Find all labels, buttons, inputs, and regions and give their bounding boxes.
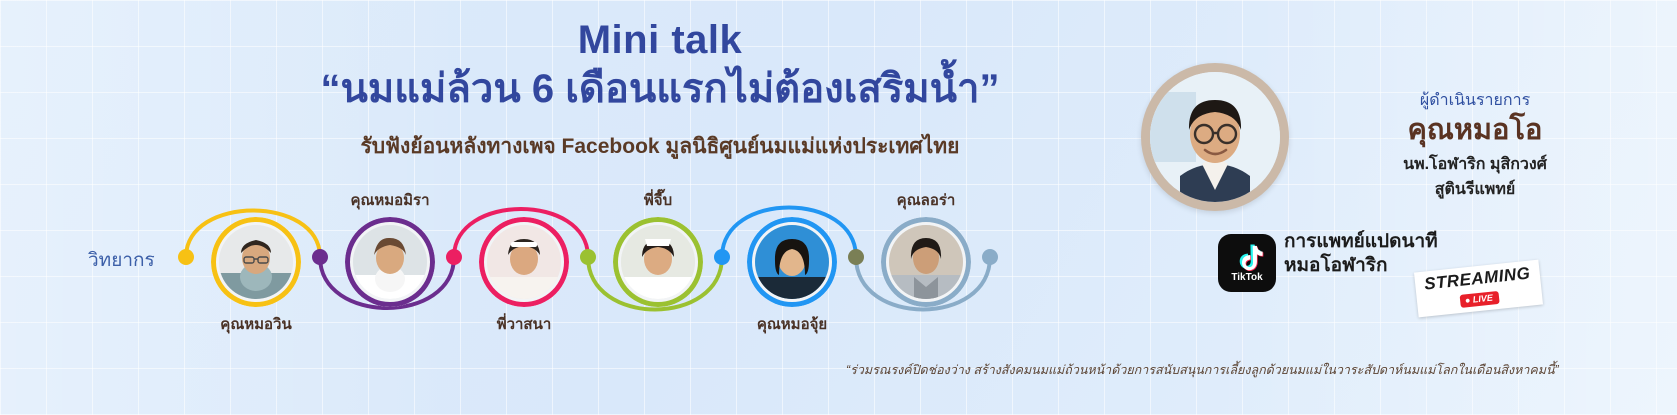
- person-photo-icon: [219, 225, 293, 299]
- speaker-name-3: พี่วาสนา: [449, 312, 599, 336]
- page-title: Mini talk: [250, 18, 1070, 62]
- campaign-note: “ร่วมรณรงค์ปิดช่องว่าง สร้างสังคมนมแม่ถ้…: [846, 360, 1559, 380]
- person-photo-icon: [621, 225, 695, 299]
- host-person-photo-icon: [1150, 72, 1280, 202]
- host-nickname: คุณหมอโอ: [1290, 115, 1660, 147]
- connector-node-3: [446, 249, 462, 265]
- person-photo-icon: [755, 225, 829, 299]
- host-fullname: นพ.โอฬาริก มุสิกวงศ์: [1290, 152, 1660, 177]
- tiktok-note-glyph: [1232, 243, 1262, 271]
- avatar-photo-5: [755, 225, 829, 299]
- avatar-photo-3: [487, 225, 561, 299]
- connector-node-2: [312, 249, 328, 265]
- speaker-avatar-5[interactable]: [747, 217, 837, 307]
- tiktok-icon[interactable]: TikTok: [1218, 234, 1276, 292]
- speaker-avatar-6[interactable]: [881, 217, 971, 307]
- host-specialty: สูตินรีแพทย์: [1290, 177, 1660, 202]
- speaker-name-6: คุณลอร่า: [851, 188, 1001, 212]
- promo-banner: Mini talk “นมแม่ล้วน 6 เดือนแรกไม่ต้องเส…: [0, 0, 1677, 415]
- avatar-photo-1: [219, 225, 293, 299]
- channel-caption-line1: การแพทย์แปดนาที: [1284, 230, 1438, 254]
- connector-node-7: [982, 249, 998, 265]
- talk-topic-quote: “นมแม่ล้วน 6 เดือนแรกไม่ต้องเสริมน้ำ”: [250, 64, 1070, 114]
- connector-node-1: [178, 249, 194, 265]
- host-role-label: ผู้ดำเนินรายการ: [1290, 88, 1660, 113]
- avatar-photo-4: [621, 225, 695, 299]
- person-photo-icon: [889, 225, 963, 299]
- live-badge: ● LIVE: [1459, 291, 1499, 308]
- speaker-name-1: คุณหมอวิน: [181, 312, 331, 336]
- connector-node-5: [714, 249, 730, 265]
- host-photo-image: [1150, 72, 1280, 202]
- host-info-block: ผู้ดำเนินรายการ คุณหมอโอ นพ.โอฬาริก มุสิ…: [1290, 88, 1660, 202]
- person-photo-icon: [487, 225, 561, 299]
- tiktok-music-note-icon: [1232, 243, 1264, 275]
- headline-block: Mini talk “นมแม่ล้วน 6 เดือนแรกไม่ต้องเส…: [250, 18, 1070, 163]
- host-avatar[interactable]: [1141, 63, 1289, 211]
- speaker-avatar-4[interactable]: [613, 217, 703, 307]
- avatar-photo-6: [889, 225, 963, 299]
- channel-caption: การแพทย์แปดนาที หมอโอฬาริก: [1284, 230, 1438, 278]
- person-photo-icon: [353, 225, 427, 299]
- connector-node-4: [580, 249, 596, 265]
- speaker-avatar-1[interactable]: [211, 217, 301, 307]
- speaker-name-2: คุณหมอมิรา: [315, 188, 465, 212]
- speaker-avatar-2[interactable]: [345, 217, 435, 307]
- replay-subtitle: รับฟังย้อนหลังทางเพจ Facebook มูลนิธิศูน…: [250, 130, 1070, 163]
- speaker-avatar-3[interactable]: [479, 217, 569, 307]
- speaker-name-4: พี่จี๊บ: [583, 188, 733, 212]
- speaker-name-5: คุณหมอจุ้ย: [717, 312, 867, 336]
- avatar-photo-2: [353, 225, 427, 299]
- connector-node-6: [848, 249, 864, 265]
